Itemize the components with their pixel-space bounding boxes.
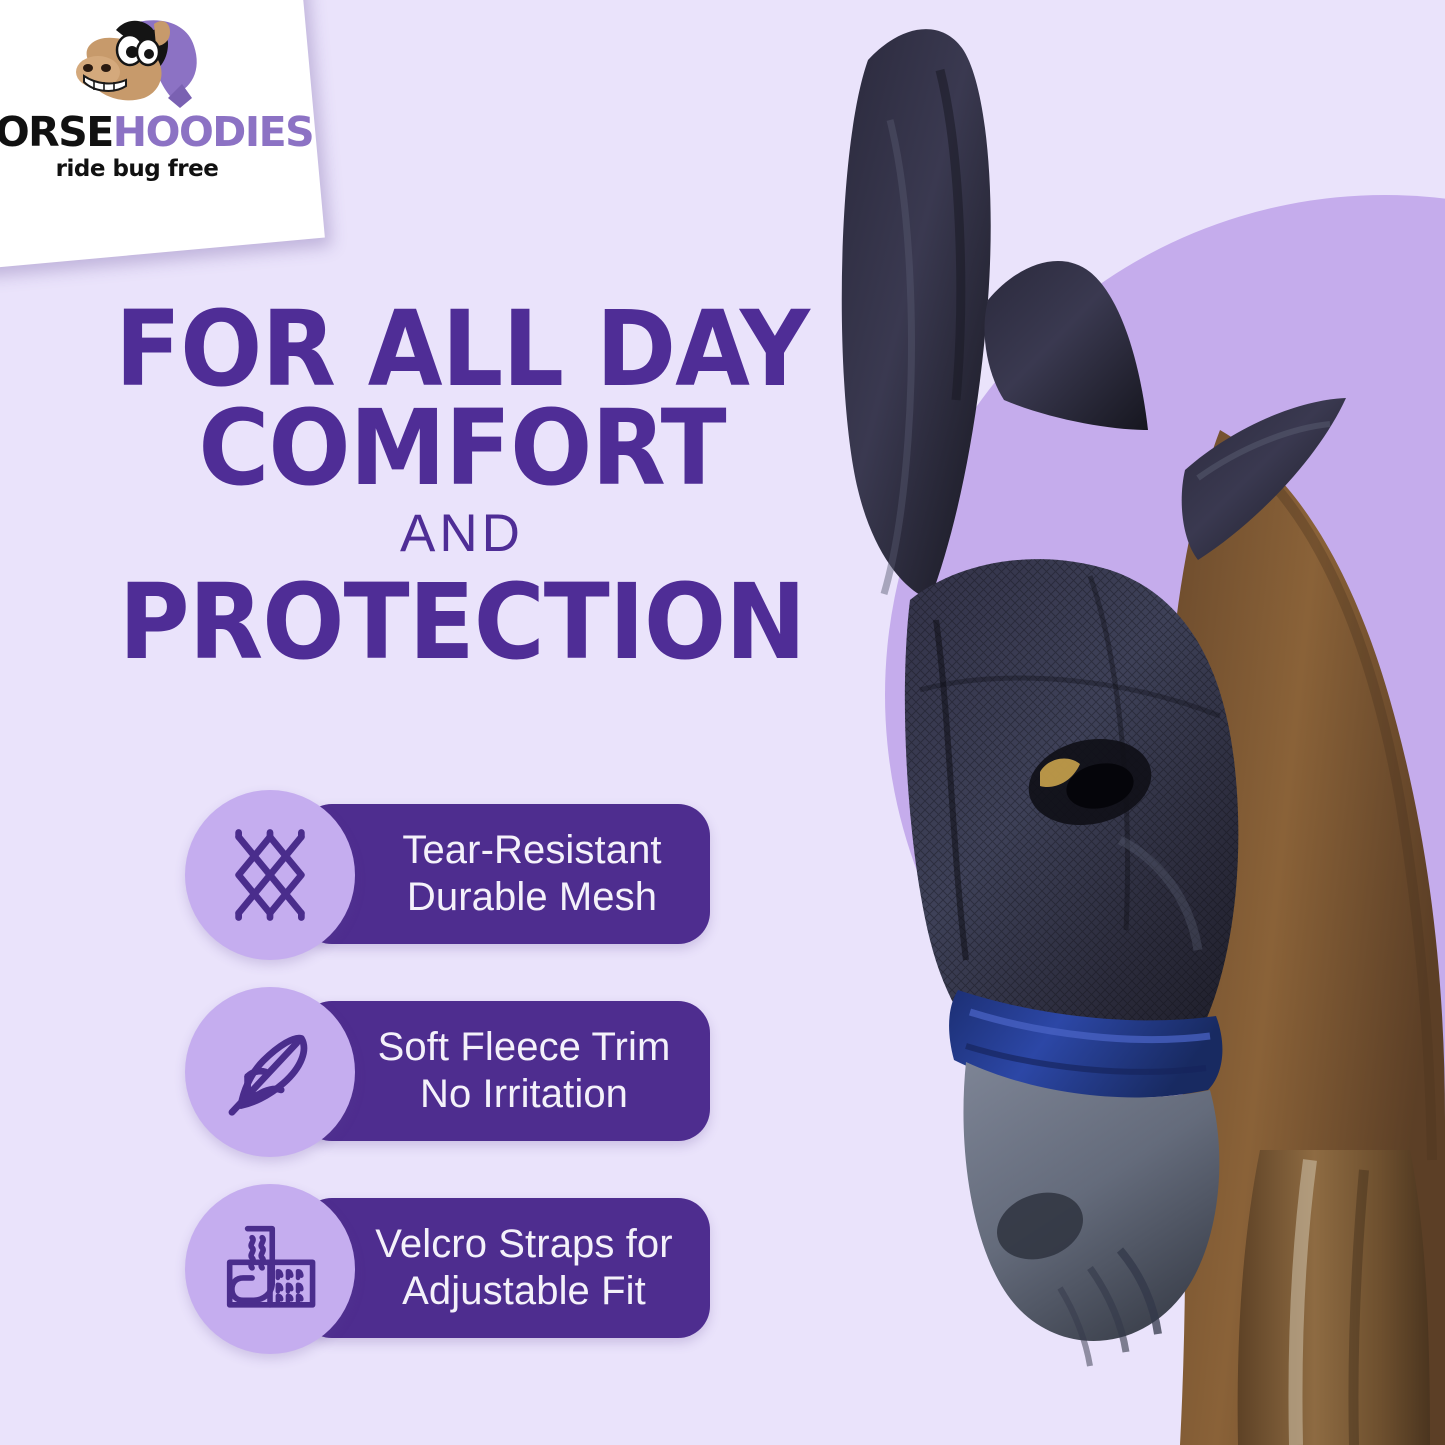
feature-text-line-2: Adjustable Fit <box>402 1269 646 1313</box>
promo-graphic: HORSEHOODIES ride bug free FOR ALL DAY C… <box>0 0 1445 1445</box>
feature-text: Tear-Resistant Durable Mesh <box>330 827 679 921</box>
feature-pill: Velcro Straps for Adjustable Fit <box>300 1198 710 1338</box>
horse-head-in-hood-icon <box>42 12 232 112</box>
feature-icon-badge <box>185 790 355 960</box>
feather-icon <box>214 1016 326 1128</box>
logo-word-hoodies: HOODIES <box>113 108 313 156</box>
feature-icon-badge <box>185 987 355 1157</box>
brand-logo-card: HORSEHOODIES ride bug free <box>0 0 325 269</box>
feature-item-mesh: Tear-Resistant Durable Mesh <box>0 790 740 960</box>
feature-pill: Tear-Resistant Durable Mesh <box>300 804 710 944</box>
feature-item-velcro: Velcro Straps for Adjustable Fit <box>0 1184 740 1354</box>
mesh-lattice-icon <box>214 819 326 931</box>
feature-pill: Soft Fleece Trim No Irritation <box>300 1001 710 1141</box>
logo-word-horse: HORSE <box>0 108 113 156</box>
velcro-strap-icon <box>214 1213 326 1325</box>
logo-tagline: ride bug free <box>0 156 312 182</box>
product-photo-donkey-fly-mask <box>790 0 1445 1445</box>
feature-text-line-2: No Irritation <box>420 1072 628 1116</box>
feature-text-line-1: Tear-Resistant <box>402 828 661 872</box>
feature-text-line-2: Durable Mesh <box>407 875 657 919</box>
feature-text-line-1: Velcro Straps for <box>375 1222 672 1266</box>
logo-wordmark: HORSEHOODIES <box>0 112 312 153</box>
feature-text: Soft Fleece Trim No Irritation <box>322 1024 689 1118</box>
feature-text-line-1: Soft Fleece Trim <box>378 1025 671 1069</box>
feature-item-fleece: Soft Fleece Trim No Irritation <box>0 987 740 1157</box>
feature-text: Velcro Straps for Adjustable Fit <box>319 1221 690 1315</box>
feature-icon-badge <box>185 1184 355 1354</box>
